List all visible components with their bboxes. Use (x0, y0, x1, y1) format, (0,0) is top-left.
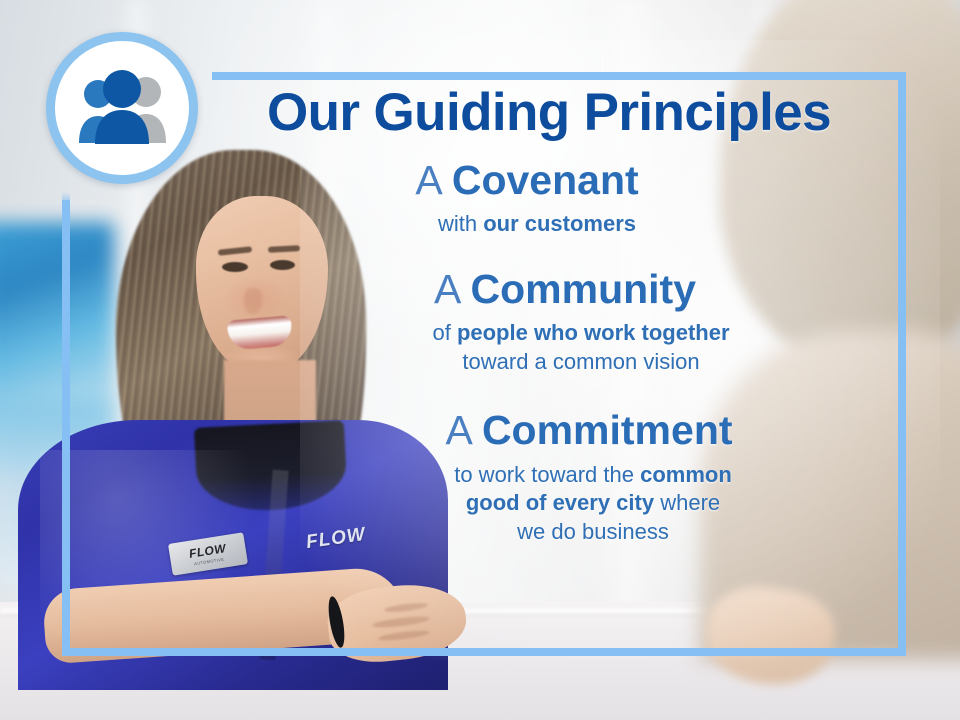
principle-desc-bold: people who work together (457, 320, 730, 345)
principle-commitment: A Commitment to work toward the common g… (210, 408, 888, 546)
principle-covenant: A Covenant with our customers (210, 158, 888, 239)
principle-description: of people who work together toward a com… (242, 319, 920, 376)
people-group-icon-badge (46, 32, 198, 184)
principle-description: with our customers (198, 210, 876, 239)
principle-desc-bold: our customers (483, 211, 636, 236)
principle-article: A (445, 407, 470, 453)
principle-description: to work toward the common good of every … (254, 461, 932, 547)
principle-desc-line2-tail: where (654, 490, 720, 515)
frame-border-left-tip (62, 192, 70, 206)
principle-keyword: Covenant (452, 157, 639, 203)
principle-desc-line2-bold: good of every city (466, 490, 654, 515)
principle-keyword: Community (471, 266, 697, 312)
principle-title: A Community (226, 267, 904, 311)
principle-desc-lead: of (432, 320, 456, 345)
principle-desc-line1-bold: common (640, 462, 732, 487)
principle-desc-lead: with (438, 211, 483, 236)
principle-desc-line1-lead: to work toward the (454, 462, 640, 487)
principle-article: A (434, 266, 459, 312)
principle-desc-line2: toward a common vision (462, 349, 699, 374)
poster-content: Our Guiding Principles A Covenant with o… (210, 86, 888, 546)
principle-title: A Commitment (250, 408, 928, 452)
principle-keyword: Commitment (482, 407, 733, 453)
frame-border-top (212, 72, 906, 80)
principle-title: A Covenant (188, 158, 866, 202)
principle-desc-line3: we do business (517, 519, 669, 544)
principle-article: A (415, 157, 440, 203)
frame-border-left (62, 200, 70, 656)
principle-community: A Community of people who work together … (210, 267, 888, 376)
page-title: Our Guiding Principles (210, 86, 888, 140)
frame-border-bottom (70, 648, 906, 656)
people-group-icon (70, 69, 174, 147)
guiding-principles-poster: FLOW AUTOMOTIVE FLOW (0, 0, 960, 720)
